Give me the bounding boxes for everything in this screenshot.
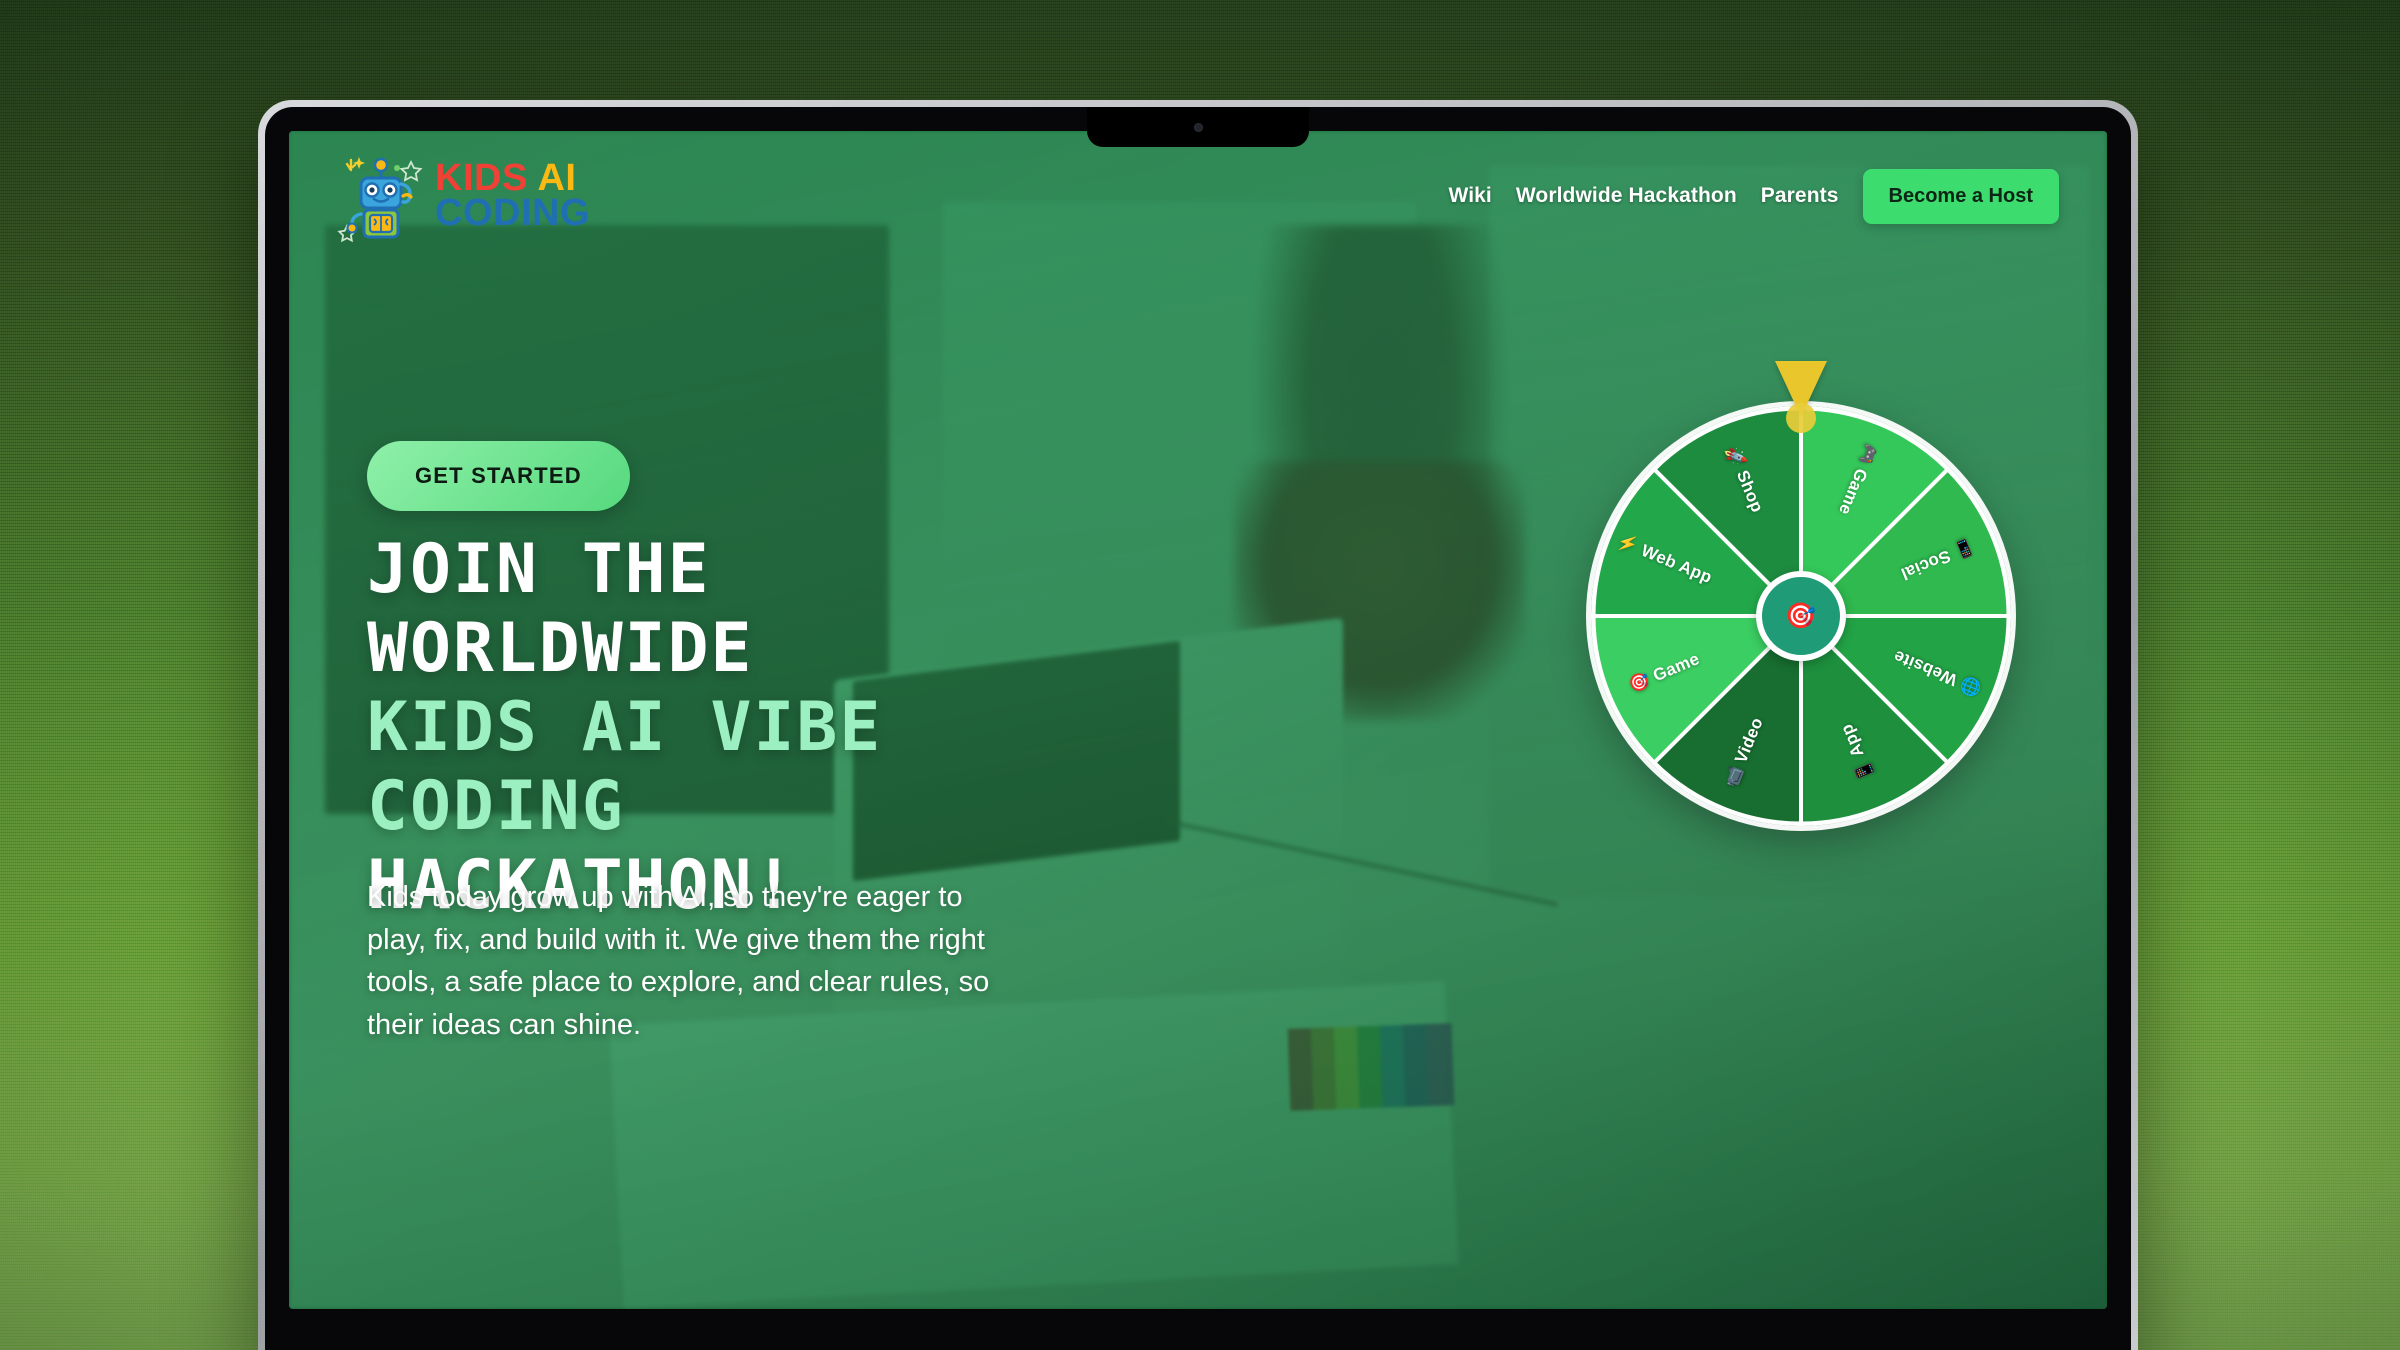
brand-coding-text: CODING	[435, 192, 590, 234]
wheel-pointer-icon	[1775, 361, 1827, 417]
website-screen: KIDS AI CODING Wiki Worldwide Hackathon …	[289, 131, 2107, 1309]
laptop-notch	[1087, 107, 1309, 147]
nav-link-wiki[interactable]: Wiki	[1448, 184, 1491, 208]
hero-section: GET STARTED JOIN THE WORLDWIDE KIDS AI V…	[289, 131, 1343, 1309]
page-root: KIDS AI CODING Wiki Worldwide Hackathon …	[0, 0, 2400, 1350]
nav-link-parents[interactable]: Parents	[1761, 184, 1839, 208]
hero-headline: JOIN THE WORLDWIDE KIDS AI VIBE CODING H…	[367, 531, 1337, 925]
wheel-hub-target-icon[interactable]: 🎯	[1756, 571, 1846, 661]
wheel-disc[interactable]: 🎮Game📱Social🌐Website📱App📹Video🎯Game⚡Web …	[1591, 406, 2011, 826]
become-a-host-button[interactable]: Become a Host	[1863, 169, 2060, 224]
webcam-icon	[1194, 123, 1203, 132]
headline-line-1: JOIN THE	[367, 531, 1337, 610]
laptop-mockup: KIDS AI CODING Wiki Worldwide Hackathon …	[258, 100, 2138, 1350]
site-header: KIDS AI CODING Wiki Worldwide Hackathon …	[289, 131, 2107, 261]
nav-link-worldwide-hackathon[interactable]: Worldwide Hackathon	[1516, 184, 1737, 208]
headline-line-4: CODING	[367, 768, 1337, 847]
robot-mascot-icon	[333, 148, 429, 244]
hub-emoji: 🎯	[1785, 602, 1816, 631]
spin-wheel[interactable]: 🎮Game📱Social🌐Website📱App📹Video🎯Game⚡Web …	[1591, 361, 2011, 831]
get-started-button[interactable]: GET STARTED	[367, 441, 630, 511]
headline-line-3: KIDS AI VIBE	[367, 689, 1337, 768]
main-navigation: Wiki Worldwide Hackathon Parents Become …	[1448, 169, 2059, 224]
brand-wordmark: KIDS AI CODING	[435, 161, 590, 231]
laptop-bezel: KIDS AI CODING Wiki Worldwide Hackathon …	[265, 107, 2131, 1350]
hero-lead-paragraph: Kids today grow up with AI, so they're e…	[367, 876, 1027, 1047]
brand-logo[interactable]: KIDS AI CODING	[333, 148, 590, 244]
headline-line-2: WORLDWIDE	[367, 610, 1337, 689]
